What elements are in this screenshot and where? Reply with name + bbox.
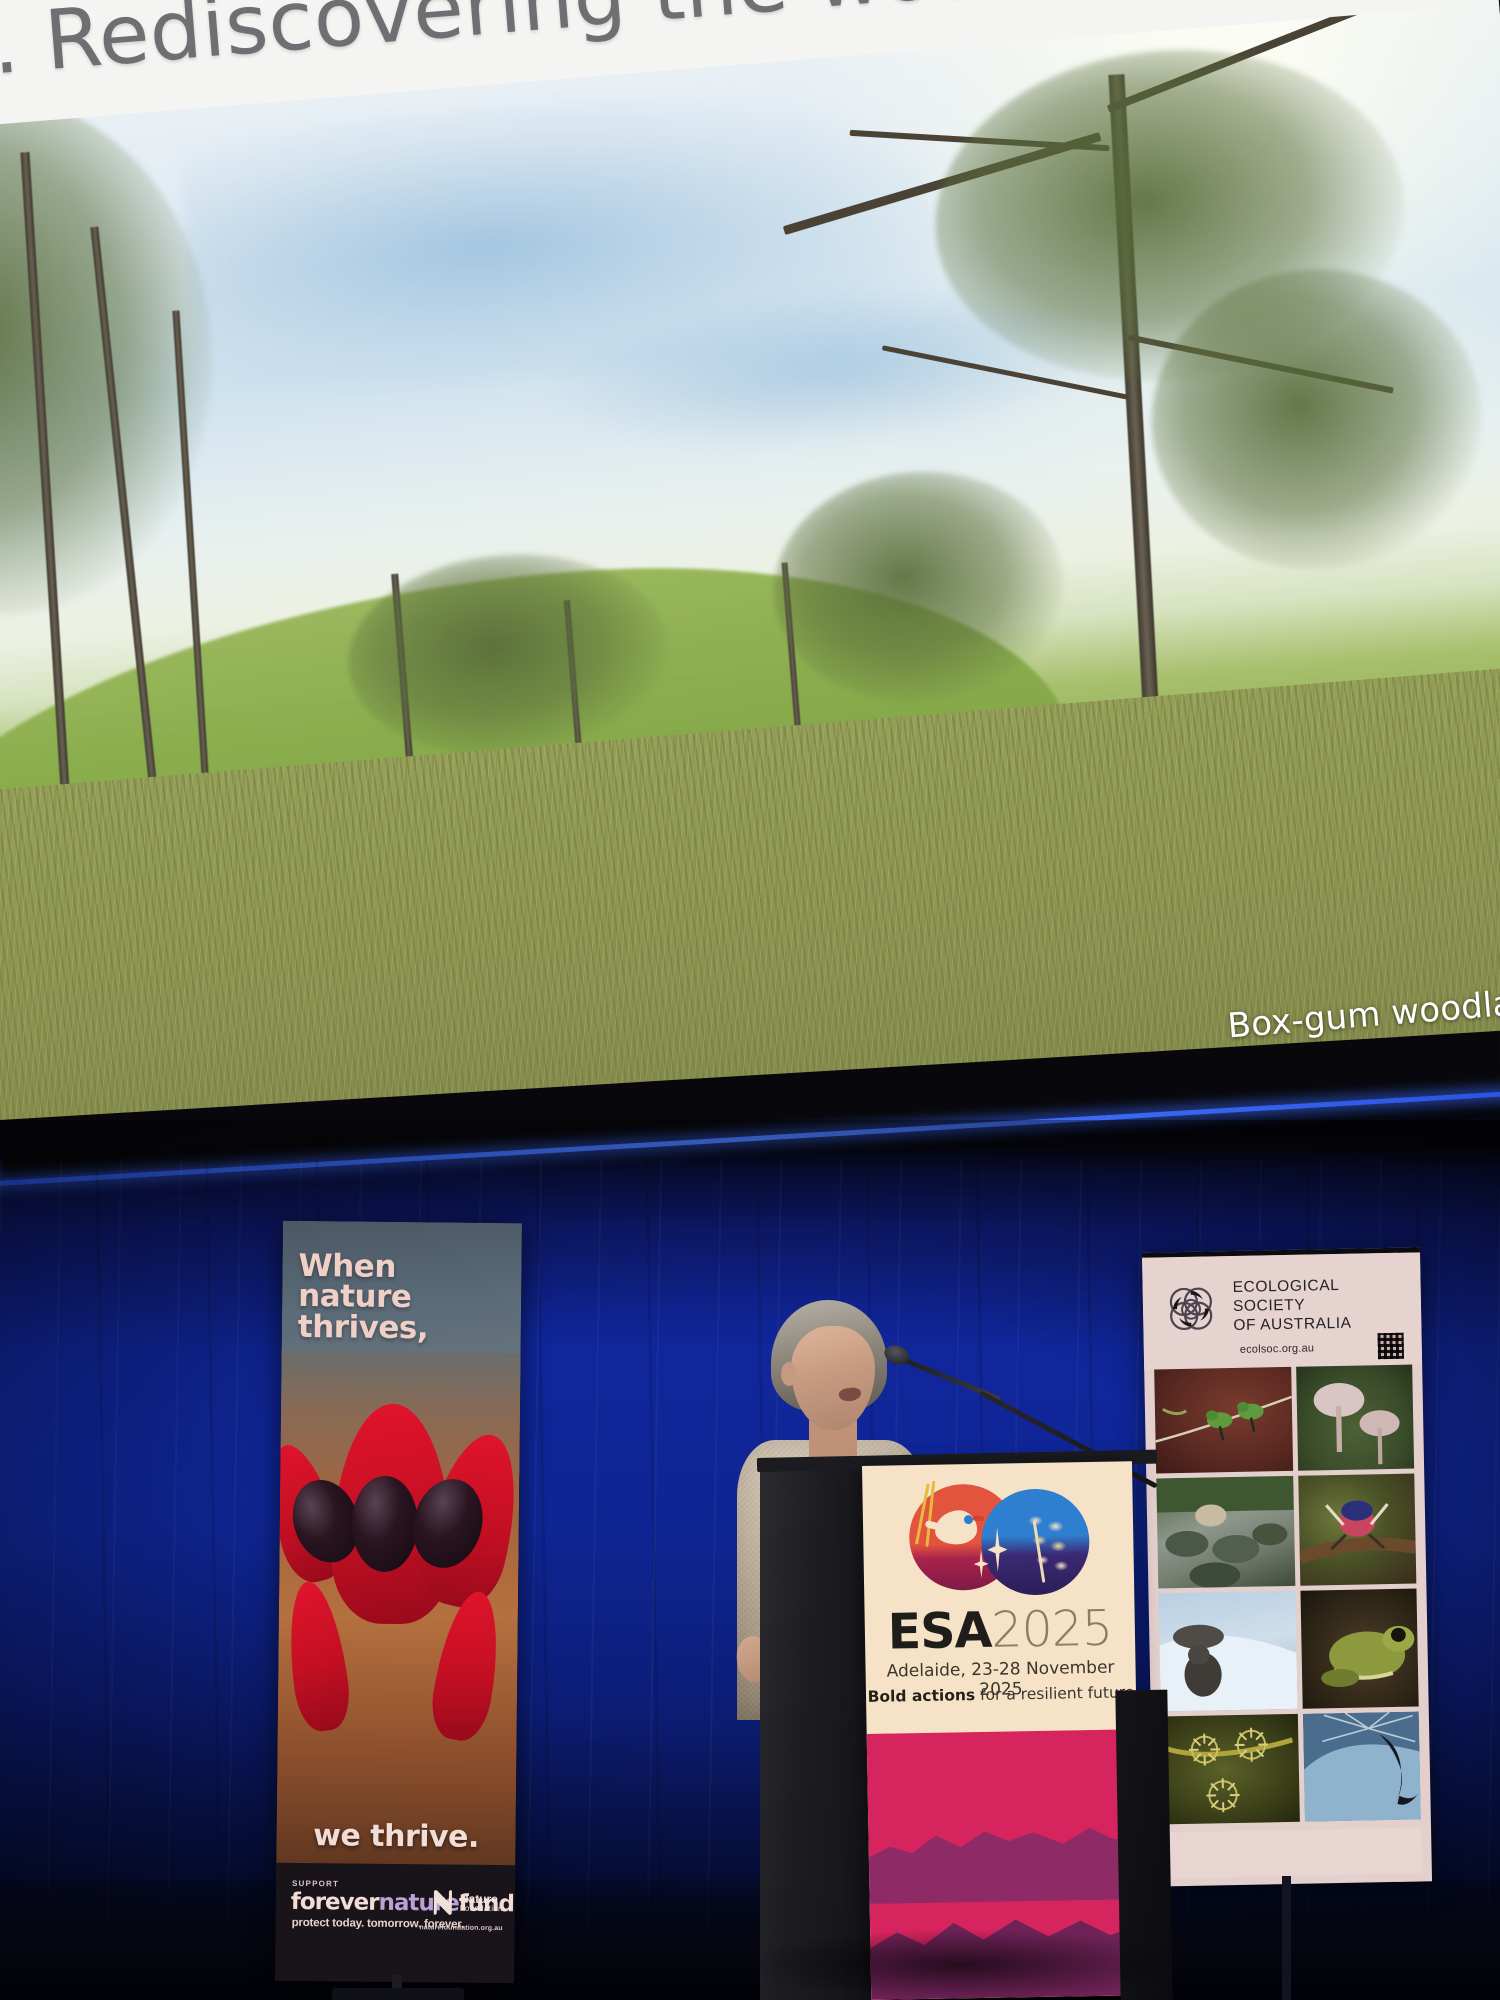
slide-woodland-photo: Box-gum woodlan (0, 4, 1500, 1200)
ecolsoc-logo-icon (1162, 1280, 1219, 1337)
nature-foundation-url: naturefoundation.org.au (419, 1924, 502, 1932)
nf-line2: Foundation (460, 1905, 503, 1914)
frog-photo (1300, 1589, 1418, 1709)
projection-screen: 1. Rediscovering the woodlands (0, 0, 1500, 1200)
left-banner-base (332, 1988, 464, 2000)
left-banner-nature-foundation: When nature thrives, we thrive. SUPPORT … (275, 1221, 522, 1983)
lectern-esa-sign: ESA2025 Adelaide, 23-28 November 2025 Bo… (862, 1461, 1141, 2000)
ecolsoc-title-line2: SOCIETY (1233, 1295, 1352, 1316)
left-banner-subline: we thrive. (276, 1818, 515, 1856)
desert-pea-petal-lower-right (426, 1587, 508, 1745)
tagline-rest: for a resilient future (975, 1683, 1135, 1704)
esa-logo-plant-icon (1017, 1506, 1080, 1583)
nature-foundation-n-icon (431, 1888, 455, 1916)
fund-name-part1: forever (291, 1889, 379, 1916)
sundew-photo (1161, 1714, 1300, 1825)
rainbow-bee-eaters-photo (1154, 1367, 1293, 1474)
peacock-spider-photo (1298, 1474, 1416, 1586)
qr-code-icon (1378, 1333, 1404, 1359)
conference-photo: 1. Rediscovering the woodlands (0, 0, 1500, 2000)
speaker-ear (781, 1362, 797, 1386)
dolphin-photo (1303, 1711, 1421, 1821)
speaker-face (791, 1326, 875, 1430)
tagline-bold: Bold actions (867, 1686, 975, 1706)
esa-logo-bird-beak (973, 1516, 984, 1522)
lectern-floor-shadow (740, 1930, 1180, 2000)
sturts-desert-pea-photo (276, 1351, 521, 1883)
nature-foundation-logo-block: Nature Foundation (431, 1888, 503, 1917)
snow-marsupial-photo (1158, 1591, 1297, 1712)
lectern-mountain-silhouette-back (868, 1813, 1139, 1904)
desert-pea-petal-lower-left (281, 1578, 354, 1734)
conference-tagline: Bold actions for a resilient future (866, 1683, 1136, 1706)
right-banner-header: ECOLOGICAL SOCIETY OF AUSTRALIA ecolsoc.… (1142, 1252, 1422, 1369)
conference-year: 2025 (991, 1600, 1113, 1659)
right-banner-ecolsoc: ECOLOGICAL SOCIETY OF AUSTRALIA ecolsoc.… (1142, 1247, 1432, 1886)
right-banner-footer-blank (1163, 1827, 1422, 1878)
esa-conference-logo (908, 1476, 1100, 1591)
right-banner-pole (1282, 1876, 1291, 2000)
left-banner-footer: SUPPORT forevernaturefund protect today.… (275, 1863, 515, 1983)
left-banner-headline: When nature thrives, (298, 1251, 499, 1344)
lectern-body (760, 1465, 880, 2000)
fieldwork-photo (1156, 1476, 1295, 1589)
ecolsoc-title-line3: OF AUSTRALIA (1233, 1314, 1352, 1335)
support-label: SUPPORT (292, 1879, 339, 1888)
conference-wordmark: ESA2025 (864, 1599, 1135, 1661)
ecolsoc-title-line1: ECOLOGICAL (1232, 1276, 1351, 1297)
ecolsoc-title: ECOLOGICAL SOCIETY OF AUSTRALIA (1232, 1276, 1351, 1336)
nature-foundation-name: Nature Foundation (460, 1892, 503, 1913)
mushrooms-photo (1296, 1365, 1414, 1471)
right-banner-photo-grid (1154, 1365, 1421, 1830)
ecolsoc-url: ecolsoc.org.au (1240, 1342, 1315, 1355)
conference-acronym: ESA (887, 1602, 992, 1661)
esa-logo-bird-eye (964, 1515, 973, 1524)
